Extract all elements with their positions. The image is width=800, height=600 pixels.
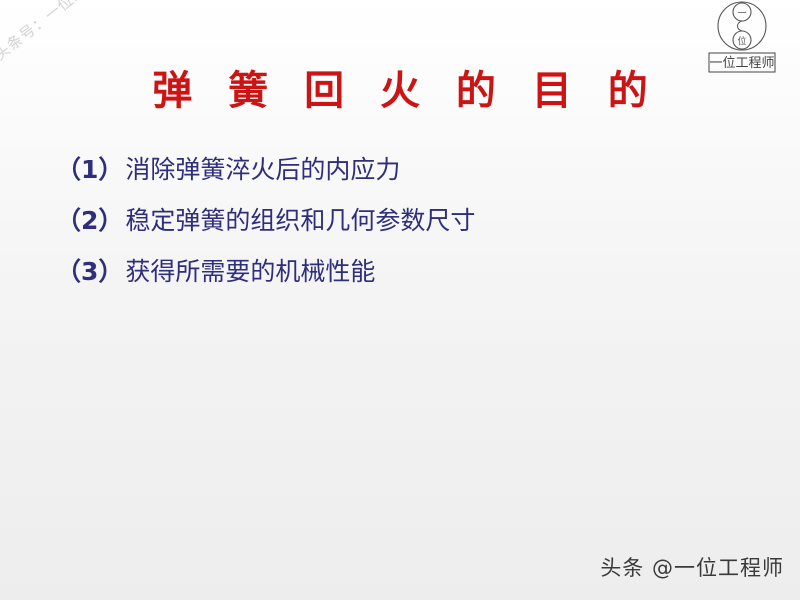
logo-top-glyph: 一 <box>737 9 746 19</box>
bullet-list: （1）消除弹簧淬火后的内应力 （2）稳定弹簧的组织和几何参数尺寸 （3）获得所需… <box>56 144 756 297</box>
list-item: （1）消除弹簧淬火后的内应力 <box>56 144 756 195</box>
list-item: （2）稳定弹簧的组织和几何参数尺寸 <box>56 195 756 246</box>
list-item-text: 稳定弹簧的组织和几何参数尺寸 <box>125 206 475 235</box>
list-item-number: （1） <box>56 155 123 184</box>
slide-title: 弹 簧 回 火 的 目 的 <box>0 58 800 116</box>
list-item-text: 消除弹簧淬火后的内应力 <box>125 155 400 184</box>
list-item: （3）获得所需要的机械性能 <box>56 246 756 297</box>
list-item-text: 获得所需要的机械性能 <box>125 257 375 286</box>
list-item-number: （2） <box>56 206 123 235</box>
logo-bottom-glyph: 位 <box>737 35 746 47</box>
presentation-slide: 头条号：一位工程师 一 位 一位工程师 弹 簧 回 火 的 目 的 （1）消除弹… <box>0 0 800 600</box>
diagonal-watermark: 头条号：一位工程师 <box>0 0 116 65</box>
footer-attribution: 头条 @一位工程师 <box>600 552 784 582</box>
list-item-number: （3） <box>56 257 123 286</box>
